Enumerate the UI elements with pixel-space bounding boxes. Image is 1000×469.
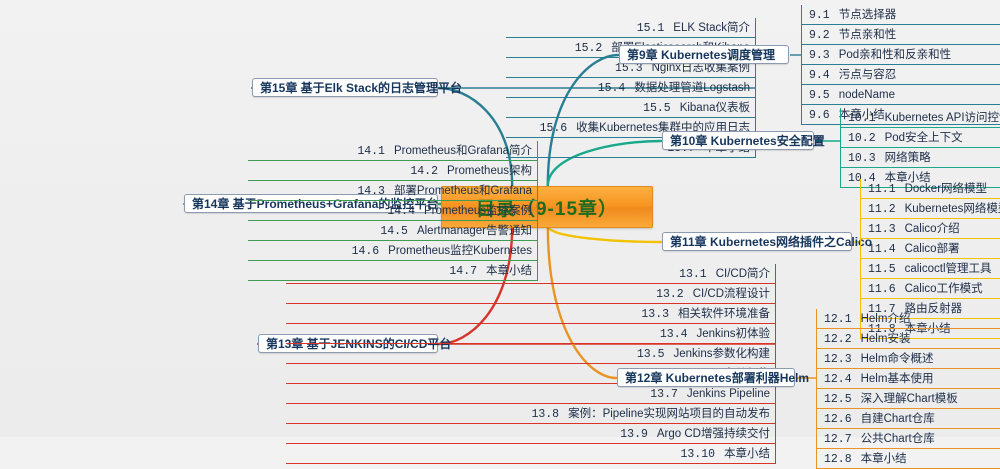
chapter-node-label: 第12章 Kubernetes部署利器Helm — [625, 369, 809, 386]
leaf-item[interactable]: 12.8本章小结 — [816, 449, 1000, 469]
leaf-item-number: 12.8 — [824, 450, 852, 469]
leaf-item-number: 12.1 — [824, 310, 852, 329]
leaf-item-number: 12.2 — [824, 330, 852, 349]
leaf-item[interactable]: 11.2Kubernetes网络模型 — [860, 199, 1000, 219]
leaf-group-ch12: 12.1Helm介绍12.2Helm安装12.3Helm命令概述12.4Helm… — [816, 309, 1000, 469]
leaf-group-ch9: 9.1节点选择器9.2节点亲和性9.3Pod亲和性和反亲和性9.4污点与容忍9.… — [801, 5, 1000, 125]
leaf-underline — [506, 157, 756, 158]
leaf-item-text: 网络策略 — [885, 149, 931, 168]
leaf-item-text: Prometheus和Grafana简介 — [394, 142, 532, 161]
leaf-item[interactable]: 13.1CI/CD简介 — [286, 264, 776, 284]
chapter-node-label: 第10章 Kubernetes安全配置 — [670, 132, 825, 149]
leaf-item[interactable]: 14.6Prometheus监控Kubernetes — [248, 241, 538, 261]
leaf-item-text: 公共Chart仓库 — [861, 430, 935, 449]
leaf-item-text: Calico介绍 — [905, 220, 960, 239]
leaf-item-number: 9.6 — [809, 106, 830, 125]
leaf-item-number: 10.3 — [848, 149, 876, 168]
leaf-item-number: 10.2 — [848, 129, 876, 148]
leaf-item-number: 9.4 — [809, 66, 830, 85]
leaf-item-number: 12.6 — [824, 410, 852, 429]
leaf-item-text: Prometheus架构 — [447, 162, 532, 181]
leaf-item-text: ELK Stack简介 — [673, 19, 750, 38]
leaf-item-number: 14.1 — [357, 142, 385, 161]
leaf-item-number: 12.5 — [824, 390, 852, 409]
leaf-item-number: 15.6 — [540, 119, 568, 138]
leaf-item-number: 13.1 — [679, 265, 707, 284]
leaf-item-number: 9.1 — [809, 6, 830, 25]
leaf-item[interactable]: 13.4Jenkins初体验 — [286, 324, 776, 344]
leaf-item[interactable]: 11.3Calico介绍 — [860, 219, 1000, 239]
leaf-item-text: 数据处理管道Logstash — [634, 79, 750, 98]
chapter-node-label: 第11章 Kubernetes网络插件之Calico — [670, 233, 872, 250]
leaf-item-number: 14.3 — [357, 182, 385, 201]
leaf-item-number: 13.10 — [680, 445, 715, 464]
leaf-item-number: 11.6 — [868, 280, 896, 299]
leaf-item[interactable]: 14.2Prometheus架构 — [248, 161, 538, 181]
leaf-item-number: 13.7 — [650, 385, 678, 404]
leaf-item-text: Pod安全上下文 — [885, 129, 963, 148]
leaf-item[interactable]: 12.4Helm基本使用 — [816, 369, 1000, 389]
leaf-item-text: Kubernetes API访问控制 — [885, 109, 1000, 128]
chapter-node-ch10[interactable]: 第10章 Kubernetes安全配置 — [662, 131, 814, 150]
leaf-item[interactable]: 12.6自建Chart仓库 — [816, 409, 1000, 429]
leaf-item-number: 11.1 — [868, 180, 896, 199]
leaf-item-text: Docker网络模型 — [905, 180, 987, 199]
leaf-item-number: 15.1 — [637, 19, 665, 38]
leaf-item-text: 节点选择器 — [839, 6, 897, 25]
leaf-item-text: 节点亲和性 — [839, 26, 897, 45]
leaf-item[interactable]: 13.3相关软件环境准备 — [286, 304, 776, 324]
leaf-item-number: 15.2 — [575, 39, 603, 58]
leaf-item-number: 13.4 — [660, 325, 688, 344]
leaf-item[interactable]: 13.2CI/CD流程设计 — [286, 284, 776, 304]
leaf-item-text: calicoctl管理工具 — [905, 260, 992, 279]
leaf-item-text: 本章小结 — [861, 450, 907, 469]
leaf-item-number: 13.2 — [656, 285, 684, 304]
leaf-item[interactable]: 11.5calicoctl管理工具 — [860, 259, 1000, 279]
leaf-item-text: 相关软件环境准备 — [678, 305, 770, 324]
leaf-item[interactable]: 10.3网络策略 — [840, 148, 1000, 168]
leaf-item-number: 10.1 — [848, 109, 876, 128]
leaf-group-ch13: 13.1CI/CD简介13.2CI/CD流程设计13.3相关软件环境准备13.4… — [286, 264, 776, 464]
chapter-node-label: 第9章 Kubernetes调度管理 — [627, 46, 775, 63]
leaf-item-number: 14.4 — [387, 202, 415, 221]
leaf-item[interactable]: 13.9Argo CD增强持续交付 — [286, 424, 776, 444]
chapter-node-ch12[interactable]: 第12章 Kubernetes部署利器Helm — [617, 368, 795, 387]
mindmap-canvas: 目录（9-15章）第15章 基于Elk Stack的日志管理平台15.1ELK … — [0, 0, 1000, 437]
leaf-item-text: 本章小结 — [724, 445, 770, 464]
leaf-item-number: 14.6 — [352, 242, 380, 261]
leaf-item[interactable]: 11.6Calico工作模式 — [860, 279, 1000, 299]
leaf-item[interactable]: 9.3Pod亲和性和反亲和性 — [801, 45, 1000, 65]
leaf-item-number: 13.3 — [641, 305, 669, 324]
leaf-item[interactable]: 9.1节点选择器 — [801, 5, 1000, 25]
leaf-item[interactable]: 9.4污点与容忍 — [801, 65, 1000, 85]
leaf-item-text: Prometheus监控案例 — [424, 202, 532, 221]
leaf-item-number: 12.7 — [824, 430, 852, 449]
leaf-item[interactable]: 14.1Prometheus和Grafana简介 — [248, 141, 538, 161]
leaf-item-text: 自建Chart仓库 — [861, 410, 935, 429]
leaf-item-text: 污点与容忍 — [839, 66, 897, 85]
leaf-item[interactable]: 12.7公共Chart仓库 — [816, 429, 1000, 449]
leaf-group-ch14: 14.1Prometheus和Grafana简介14.2Prometheus架构… — [248, 141, 538, 281]
leaf-item-number: 9.2 — [809, 26, 830, 45]
leaf-item-number: 13.8 — [531, 405, 559, 424]
leaf-item[interactable]: 12.3Helm命令概述 — [816, 349, 1000, 369]
leaf-item-number: 14.5 — [380, 222, 408, 241]
leaf-item-text: Jenkins初体验 — [697, 325, 771, 344]
leaf-item-number: 13.5 — [637, 345, 665, 364]
leaf-item-number: 9.5 — [809, 86, 830, 105]
leaf-item-text: Alertmanager告警通知 — [417, 222, 532, 241]
leaf-item[interactable]: 12.2Helm安装 — [816, 329, 1000, 349]
leaf-item-text: Kubernetes网络模型 — [905, 200, 1000, 219]
leaf-item-number: 13.9 — [620, 425, 648, 444]
leaf-item-number: 11.3 — [868, 220, 896, 239]
leaf-item-text: Helm安装 — [861, 330, 911, 349]
leaf-item[interactable]: 15.1ELK Stack简介 — [506, 18, 756, 38]
leaf-item-text: Kibana仪表板 — [680, 99, 750, 118]
leaf-group-ch10: 10.1Kubernetes API访问控制10.2Pod安全上下文10.3网络… — [840, 108, 1000, 188]
leaf-item-text: Helm命令概述 — [861, 350, 934, 369]
leaf-item-number: 11.4 — [868, 240, 896, 259]
leaf-item[interactable]: 13.7Jenkins Pipeline — [286, 384, 776, 404]
leaf-item-number: 14.2 — [410, 162, 438, 181]
leaf-item-number: 15.4 — [598, 79, 626, 98]
chapter-node-ch15[interactable]: 第15章 基于Elk Stack的日志管理平台 — [252, 78, 438, 97]
leaf-item-text: Jenkins参数化构建 — [674, 345, 771, 364]
leaf-item[interactable]: 9.2节点亲和性 — [801, 25, 1000, 45]
curve-ch11 — [548, 226, 661, 242]
leaf-item[interactable]: 14.5Alertmanager告警通知 — [248, 221, 538, 241]
leaf-item-text: 深入理解Chart模板 — [861, 390, 958, 409]
chapter-node-ch11[interactable]: 第11章 Kubernetes网络插件之Calico — [662, 232, 852, 251]
leaf-item-text: Calico部署 — [905, 240, 960, 259]
leaf-item[interactable]: 12.1Helm介绍 — [816, 309, 1000, 329]
leaf-item-text: nodeName — [839, 86, 895, 105]
leaf-item-text: Jenkins Pipeline — [687, 385, 770, 404]
leaf-item-text: CI/CD简介 — [716, 265, 770, 284]
leaf-item-number: 9.3 — [809, 46, 830, 65]
leaf-item[interactable]: 9.5nodeName — [801, 85, 1000, 105]
leaf-item-text: 案例：Pipeline实现网站项目的自动发布 — [568, 405, 770, 424]
leaf-item[interactable]: 13.10本章小结 — [286, 444, 776, 464]
leaf-item-text: CI/CD流程设计 — [693, 285, 770, 304]
leaf-item[interactable]: 14.4Prometheus监控案例 — [248, 201, 538, 221]
leaf-item-text: Pod亲和性和反亲和性 — [839, 46, 951, 65]
leaf-underline — [286, 463, 776, 464]
leaf-item[interactable]: 15.4数据处理管道Logstash — [506, 78, 756, 98]
leaf-item-number: 11.2 — [868, 200, 896, 219]
leaf-item[interactable]: 13.8案例：Pipeline实现网站项目的自动发布 — [286, 404, 776, 424]
leaf-item[interactable]: 10.1Kubernetes API访问控制 — [840, 108, 1000, 128]
leaf-item-text: Calico工作模式 — [905, 280, 983, 299]
leaf-item-text: Helm基本使用 — [861, 370, 934, 389]
leaf-item[interactable]: 12.5深入理解Chart模板 — [816, 389, 1000, 409]
leaf-item-text: Prometheus监控Kubernetes — [388, 242, 532, 261]
chapter-node-ch9[interactable]: 第9章 Kubernetes调度管理 — [619, 45, 789, 64]
leaf-item-text: Helm介绍 — [861, 310, 911, 329]
leaf-item-text: Argo CD增强持续交付 — [657, 425, 770, 444]
leaf-item[interactable]: 15.5Kibana仪表板 — [506, 98, 756, 118]
chapter-node-label: 第15章 基于Elk Stack的日志管理平台 — [260, 79, 462, 96]
leaf-item[interactable]: 11.4Calico部署 — [860, 239, 1000, 259]
leaf-item[interactable]: 13.5Jenkins参数化构建 — [286, 344, 776, 364]
leaf-item-number: 12.3 — [824, 350, 852, 369]
leaf-item[interactable]: 11.1Docker网络模型 — [860, 179, 1000, 199]
leaf-item[interactable]: 14.3部署Prometheus和Grafana — [248, 181, 538, 201]
leaf-item-text: 部署Prometheus和Grafana — [394, 182, 532, 201]
leaf-item-number: 11.5 — [868, 260, 896, 279]
leaf-item-number: 15.5 — [643, 99, 671, 118]
leaf-item[interactable]: 10.2Pod安全上下文 — [840, 128, 1000, 148]
leaf-item-number: 12.4 — [824, 370, 852, 389]
